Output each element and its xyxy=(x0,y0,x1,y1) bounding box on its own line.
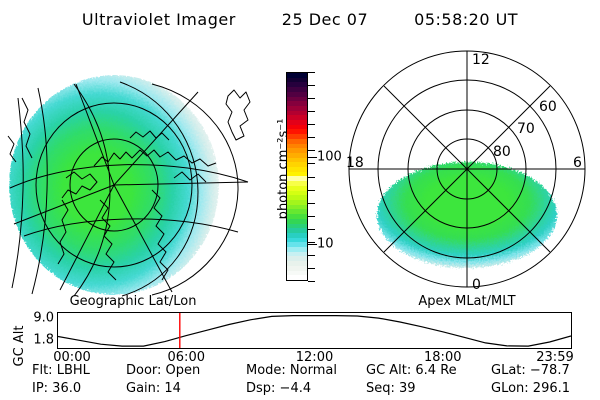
colorbar-minor-tick xyxy=(308,242,315,243)
apex-plot-svg: 12 6 0 18 60 70 80 xyxy=(336,40,598,298)
mlt-label-18: 18 xyxy=(346,155,364,171)
colorbar-major-tick xyxy=(308,244,317,245)
status-field: GLon: 296.1 xyxy=(485,381,600,396)
colorbar: photon cm⁻²s⁻¹ 10010 xyxy=(262,62,336,292)
colorbar-minor-tick xyxy=(308,255,315,256)
colorbar-minor-tick xyxy=(308,85,315,86)
colorbar-minor-tick xyxy=(308,268,315,269)
status-field: Dsp: −4.4 xyxy=(240,381,360,396)
colorbar-minor-tick xyxy=(308,98,315,99)
mlt-spokes xyxy=(349,51,585,287)
mlat-label-80: 80 xyxy=(493,144,511,160)
colorbar-band xyxy=(287,275,307,280)
colorbar-minor-tick xyxy=(308,281,315,282)
observation-date: 25 Dec 07 xyxy=(282,10,368,29)
status-block: Flt: LBHLDoor: OpenMode: NormalGC Alt: 6… xyxy=(0,362,600,400)
colorbar-minor-tick xyxy=(308,229,315,230)
altitude-y-ticks: 9.01.8 xyxy=(16,310,54,350)
colorbar-gradient[interactable] xyxy=(286,72,308,281)
altitude-plot-box[interactable] xyxy=(57,312,572,349)
altitude-y-tick-label: 1.8 xyxy=(33,334,54,347)
colorbar-tick-label: 10 xyxy=(317,238,334,251)
status-field: Seq: 39 xyxy=(360,381,485,396)
mlat-label-70: 70 xyxy=(517,121,535,137)
colorbar-minor-tick xyxy=(308,216,315,217)
apex-polar-plot[interactable]: 12 6 0 18 60 70 80 xyxy=(336,40,598,298)
status-field: Door: Open xyxy=(120,363,240,378)
mlt-label-12: 12 xyxy=(472,52,490,68)
colorbar-minor-tick xyxy=(308,190,315,191)
status-field: Flt: LBHL xyxy=(0,363,120,378)
instrument-title: Ultraviolet Imager xyxy=(82,10,236,29)
colorbar-minor-tick xyxy=(308,72,315,73)
status-field: Mode: Normal xyxy=(240,363,360,378)
altitude-y-tick-label: 9.0 xyxy=(33,312,54,325)
colorbar-minor-tick xyxy=(308,203,315,204)
colorbar-minor-tick xyxy=(308,150,315,151)
apex-panel-caption: Apex MLat/MLT xyxy=(336,294,598,309)
altitude-curve-svg xyxy=(58,313,571,348)
altitude-curve xyxy=(58,316,571,347)
observation-time: 05:58:20 UT xyxy=(414,10,518,29)
status-row: IP: 36.0Gain: 14Dsp: −4.4Seq: 39GLon: 29… xyxy=(0,380,600,397)
geographic-panel-caption: Geographic Lat/Lon xyxy=(2,294,264,309)
mlt-label-6: 6 xyxy=(573,155,582,171)
status-field: IP: 36.0 xyxy=(0,381,120,396)
colorbar-minor-tick xyxy=(308,111,315,112)
header-bar: Ultraviolet Imager 25 Dec 07 05:58:20 UT xyxy=(0,6,600,32)
colorbar-minor-tick xyxy=(308,124,315,125)
status-field: GC Alt: 6.4 Re xyxy=(360,363,485,378)
status-field: GLat: −78.7 xyxy=(485,363,600,378)
geographic-polar-plot[interactable] xyxy=(2,40,264,298)
colorbar-minor-tick xyxy=(308,177,315,178)
colorbar-minor-tick xyxy=(308,137,315,138)
altitude-strip: GC Alt 9.01.8 00:0006:0012:0018:0023:59 xyxy=(0,310,600,358)
colorbar-minor-tick xyxy=(308,163,315,164)
mlt-label-0: 0 xyxy=(472,277,481,293)
colorbar-major-tick xyxy=(308,157,317,158)
status-field: Gain: 14 xyxy=(120,381,240,396)
mlat-label-60: 60 xyxy=(539,99,557,115)
geographic-plot-svg xyxy=(2,40,264,298)
status-row: Flt: LBHLDoor: OpenMode: NormalGC Alt: 6… xyxy=(0,362,600,379)
